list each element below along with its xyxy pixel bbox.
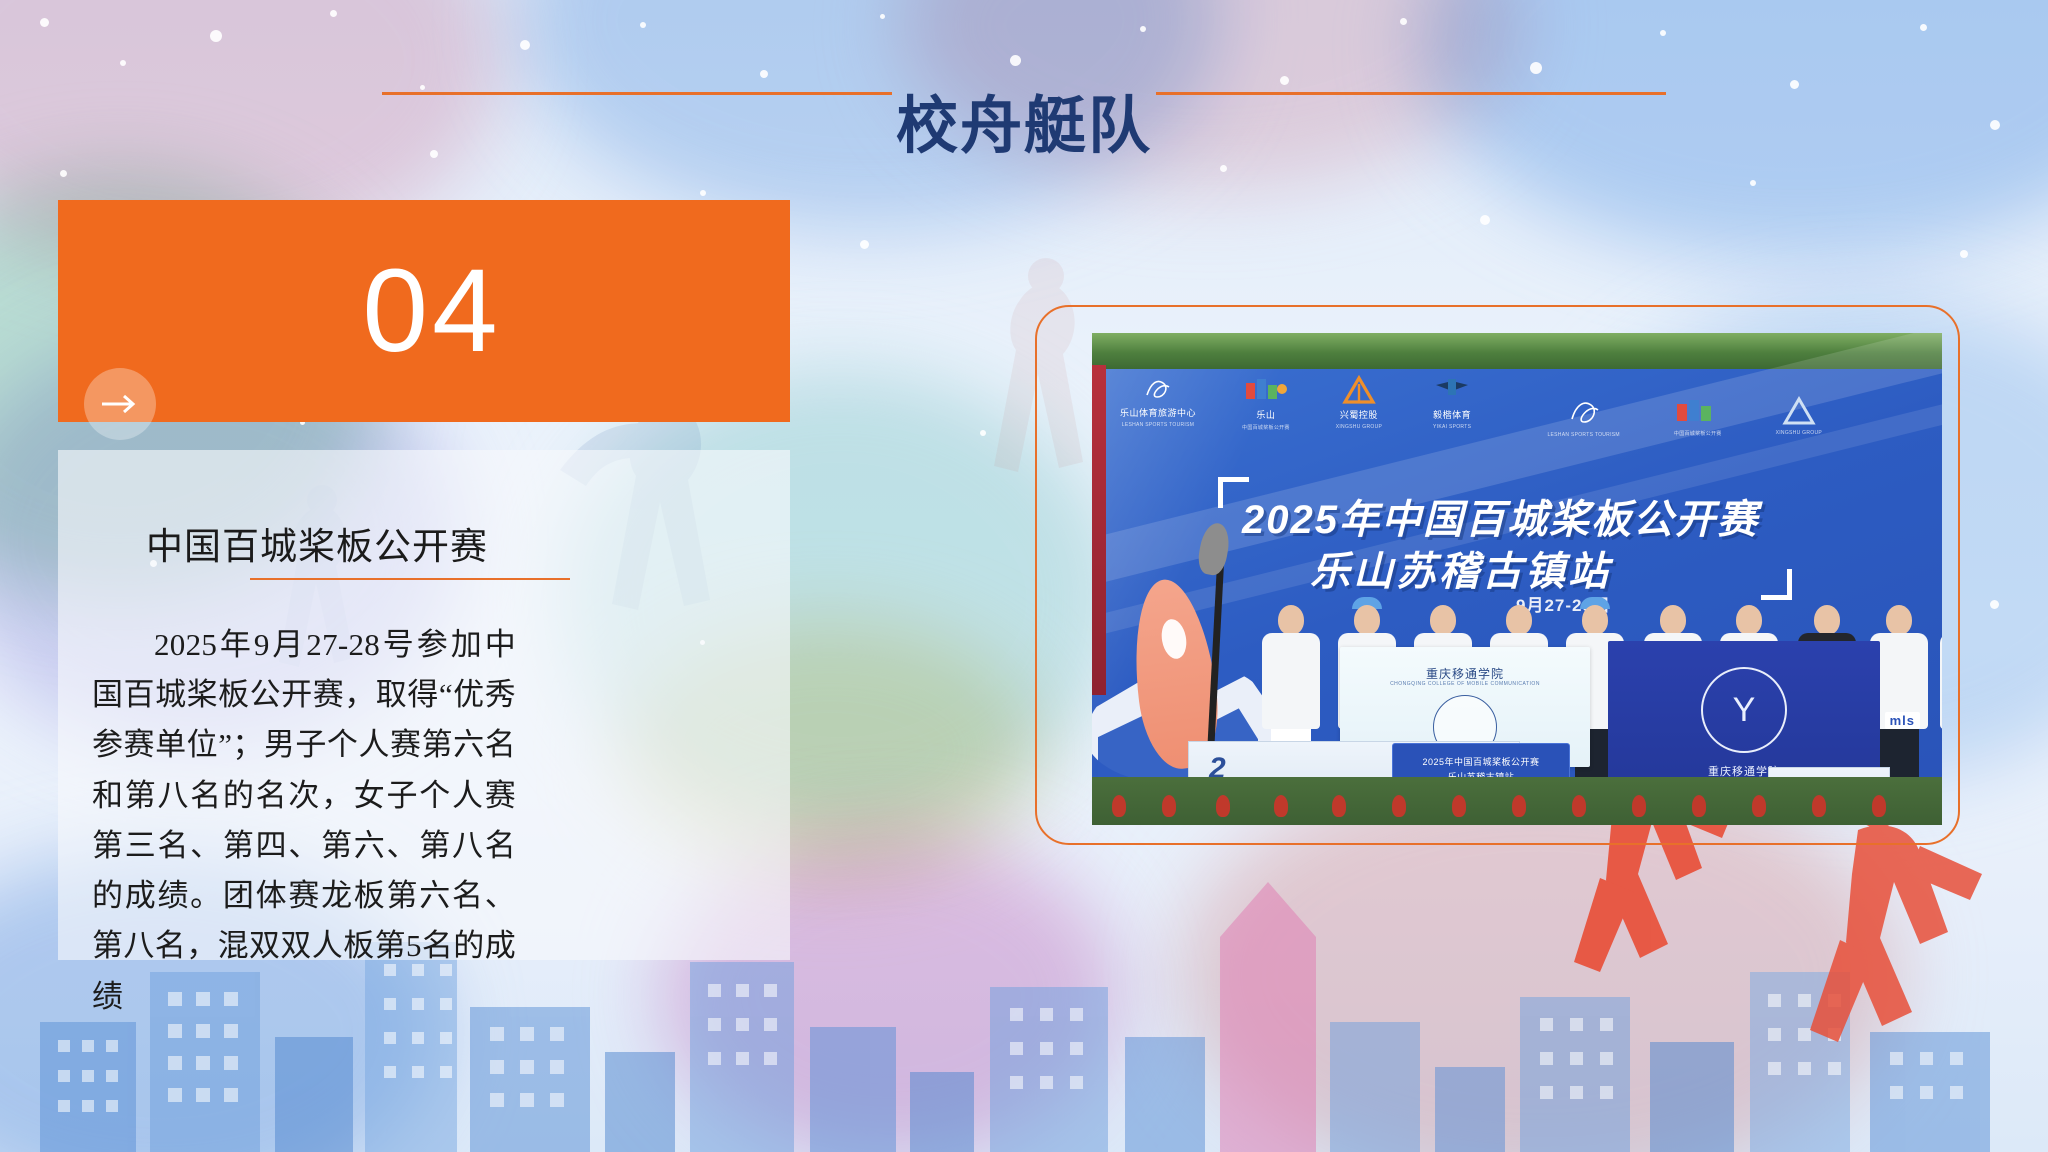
xingshu-triangle-icon: [1342, 375, 1376, 405]
leshan-swirl-icon: [1141, 375, 1175, 403]
sponsor-3-name: 毅楷体育: [1433, 408, 1471, 421]
secondary-logo-triangle: XINGSHU GROUP: [1776, 395, 1822, 436]
slide-canvas: 校舟艇队 04 中国百城桨板公开赛 2025年9月27-28号参加中国百城桨板公…: [0, 0, 2048, 1152]
swirl-mark-icon: [1564, 395, 1604, 429]
signboard-line1: 2025年中国百城桨板公开赛: [1422, 755, 1539, 768]
sponsor-2-name: 兴蜀控股: [1340, 408, 1378, 421]
subheading-underline: [250, 578, 570, 580]
team-member: [1940, 597, 1942, 785]
blue-flag-mark: Y: [1733, 693, 1756, 727]
white-flag-title: 重庆移通学院: [1340, 665, 1590, 682]
secondary-logo-leshan-sub: 中国百城桨板公开赛: [1674, 430, 1722, 437]
banner-sponsor-logos: 乐山体育旅游中心 LESHAN SPORTS TOURISM 乐山 中国百城桨板…: [1120, 375, 1476, 431]
secondary-logo-swirl-sub: LESHAN SPORTS TOURISM: [1547, 432, 1619, 438]
page-title: 校舟艇队: [0, 96, 2048, 158]
section-number: 04: [362, 252, 501, 370]
secondary-logo-triangle-sub: XINGSHU GROUP: [1776, 430, 1822, 436]
section-subheading: 中国百城桨板公开赛: [146, 516, 488, 570]
blue-flag-seal: Y: [1701, 667, 1787, 753]
leshan-mark-icon: [1675, 395, 1721, 427]
triangle-mark-icon: [1782, 395, 1816, 427]
banner-secondary-logos: LESHAN SPORTS TOURISM 中国百城桨板公开赛 XINGSHU …: [1547, 395, 1822, 438]
sponsor-logo-0: 乐山体育旅游中心 LESHAN SPORTS TOURISM: [1120, 375, 1196, 428]
leshan-colored-icon: [1244, 375, 1288, 405]
section-body-text: 2025年9月27-28号参加中国百城桨板公开赛，取得“优秀参赛单位”；男子个人…: [92, 620, 516, 1022]
white-flag-subtitle: CHONGQING COLLEGE OF MOBILE COMMUNICATIO…: [1340, 681, 1590, 687]
yikai-wings-icon: [1428, 375, 1476, 405]
secondary-logo-leshan: 中国百城桨板公开赛: [1674, 395, 1722, 437]
sponsor-1-sub: 中国百城桨板公开赛: [1242, 424, 1290, 431]
section-number-box: 04: [58, 200, 790, 422]
sponsor-3-sub: YIKAI SPORTS: [1433, 424, 1471, 430]
sponsor-0-name: 乐山体育旅游中心: [1120, 406, 1196, 419]
sponsor-0-sub: LESHAN SPORTS TOURISM: [1122, 422, 1194, 428]
secondary-logo-swirl: LESHAN SPORTS TOURISM: [1547, 395, 1619, 438]
arrow-right-icon[interactable]: [84, 368, 156, 440]
sponsor-logo-2: 兴蜀控股 XINGSHU GROUP: [1336, 375, 1382, 430]
sponsor-logo-3: 毅楷体育 YIKAI SPORTS: [1428, 375, 1476, 430]
event-photo: 乐山体育旅游中心 LESHAN SPORTS TOURISM 乐山 中国百城桨板…: [1092, 333, 1942, 825]
banner-red-edge: [1092, 365, 1106, 695]
sponsor-2-sub: XINGSHU GROUP: [1336, 424, 1382, 430]
banner-headline-line1: 2025年中国百城桨板公开赛: [1242, 487, 1759, 545]
sponsor-1-name: 乐山: [1256, 408, 1275, 421]
sponsor-logo-1: 乐山 中国百城桨板公开赛: [1242, 375, 1290, 431]
brand-tag: mls: [1885, 712, 1920, 729]
